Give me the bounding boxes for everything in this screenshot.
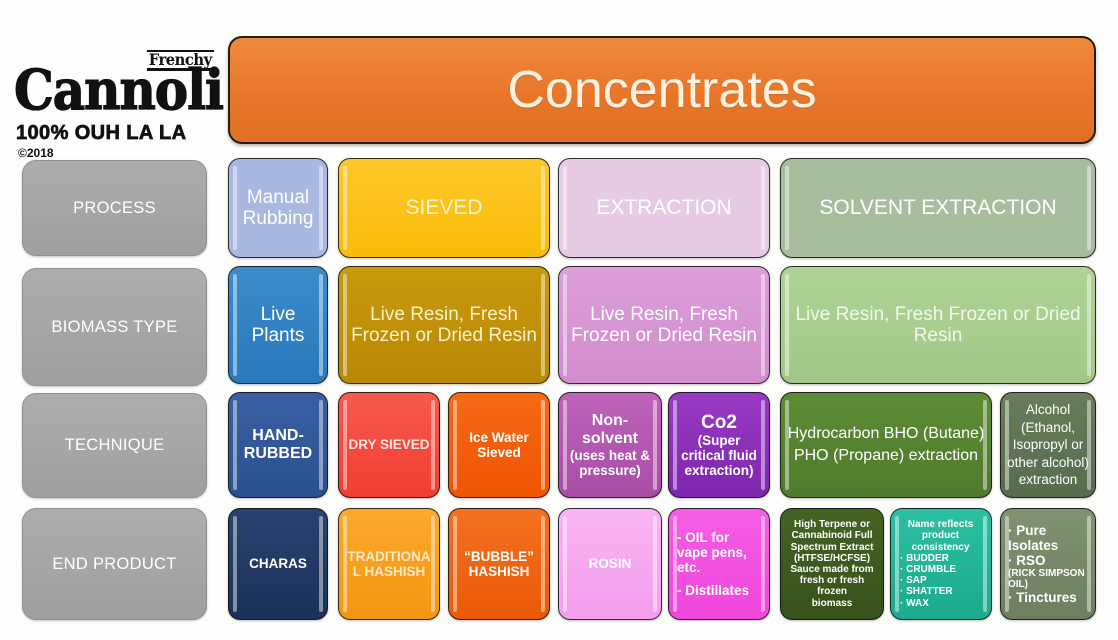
end-product-cell-isolates[interactable]: · Pure Isolates · RSO (RICK SIMPSON OIL)…: [1000, 508, 1096, 620]
end-product-oil-line-2: - Distillates: [677, 583, 763, 598]
biomass-extraction-text: Live Resin, Fresh Frozen or Dried Resin: [565, 304, 763, 347]
technique-co2-title: Co2: [675, 412, 763, 433]
end-product-htfse-line-4: (HTFSE/HCFSE): [787, 553, 877, 564]
biomass-cell-live-plants[interactable]: Live Plants: [228, 266, 328, 384]
biomass-cell-solvent-extraction[interactable]: Live Resin, Fresh Frozen or Dried Resin: [780, 266, 1096, 384]
end-product-traditional-hashish-text: TRADITIONA L HASHISH: [345, 549, 433, 579]
biomass-live-plants-text: Live Plants: [235, 304, 321, 347]
technique-non-solvent-sub: (uses heat & pressure): [565, 448, 655, 478]
technique-non-solvent-title: Non-solvent: [565, 412, 655, 448]
row-label-end-product-text: END PRODUCT: [52, 555, 176, 574]
end-product-cell-htfse-hcfse[interactable]: High Terpene or Cannabinoid Full Spectru…: [780, 508, 884, 620]
end-product-htfse-line-2: Cannabinoid Full: [787, 530, 877, 541]
technique-ice-water-sieved-text: Ice Water Sieved: [455, 430, 543, 460]
logo-cannoli-text: Cannoli: [14, 63, 223, 118]
row-label-end-product: END PRODUCT: [22, 508, 207, 620]
logo-tagline: 100% OUH LA LA: [16, 122, 186, 145]
row-label-technique: TECHNIQUE: [22, 393, 207, 498]
technique-hydrocarbon-text: Hydrocarbon BHO (Butane) PHO (Propane) e…: [787, 423, 985, 466]
end-product-cell-consistency[interactable]: Name reflects product consistency · BUDD…: [890, 508, 992, 620]
biomass-cell-sieved[interactable]: Live Resin, Fresh Frozen or Dried Resin: [338, 266, 550, 384]
end-product-consistency-bullet-4: · SHATTER: [896, 586, 985, 597]
end-product-rosin-text: ROSIN: [565, 556, 655, 571]
biomass-sieved-text: Live Resin, Fresh Frozen or Dried Resin: [345, 304, 543, 347]
technique-cell-hydrocarbon[interactable]: Hydrocarbon BHO (Butane) PHO (Propane) e…: [780, 392, 992, 498]
technique-dry-sieved-text: DRY SIEVED: [345, 437, 433, 452]
technique-cell-alcohol[interactable]: Alcohol (Ethanol, Isopropyl or other alc…: [1000, 392, 1096, 498]
technique-alcohol-text: Alcohol (Ethanol, Isopropyl or other alc…: [1007, 401, 1089, 489]
end-product-htfse-line-3: Spectrum Extract: [787, 542, 877, 553]
end-product-isolates-bullet-2: · RSO: [1008, 553, 1089, 568]
end-product-charas-text: CHARAS: [235, 556, 321, 571]
row-label-process: PROCESS: [22, 160, 207, 256]
end-product-bubble-hashish-text: “BUBBLE” HASHISH: [455, 549, 543, 579]
end-product-cell-bubble-hashish[interactable]: “BUBBLE” HASHISH: [448, 508, 550, 620]
process-sieved-text: SIEVED: [345, 196, 543, 220]
end-product-consistency-bullet-1: · BUDDER: [896, 553, 985, 564]
end-product-cell-oil-distillates[interactable]: - OIL for vape pens, etc. - Distillates: [668, 508, 770, 620]
page-title: Concentrates: [228, 36, 1096, 144]
technique-cell-hand-rubbed[interactable]: HAND-RUBBED: [228, 392, 328, 498]
technique-cell-dry-sieved[interactable]: DRY SIEVED: [338, 392, 440, 498]
page-title-text: Concentrates: [507, 60, 816, 120]
end-product-isolates-bullet-3: · Tinctures: [1008, 590, 1089, 605]
process-cell-solvent-extraction[interactable]: SOLVENT EXTRACTION: [780, 158, 1096, 258]
end-product-isolates-bullet-1: · Pure Isolates: [1008, 523, 1089, 553]
technique-cell-non-solvent[interactable]: Non-solvent (uses heat & pressure): [558, 392, 662, 498]
infographic-root: Frenchy Cannoli 100% OUH LA LA ©2018 Con…: [0, 0, 1118, 640]
end-product-consistency-heading: Name reflects product consistency: [896, 519, 985, 553]
process-solvent-extraction-text: SOLVENT EXTRACTION: [787, 196, 1089, 220]
biomass-cell-extraction[interactable]: Live Resin, Fresh Frozen or Dried Resin: [558, 266, 770, 384]
process-cell-manual-rubbing[interactable]: Manual Rubbing: [228, 158, 328, 258]
end-product-htfse-line-1: High Terpene or: [787, 519, 877, 530]
end-product-htfse-line-7: biomass: [787, 598, 877, 609]
end-product-htfse-line-5: Sauce made from: [787, 564, 877, 575]
process-extraction-text: EXTRACTION: [565, 196, 763, 220]
end-product-cell-rosin[interactable]: ROSIN: [558, 508, 662, 620]
biomass-solvent-extraction-text: Live Resin, Fresh Frozen or Dried Resin: [787, 304, 1089, 347]
process-cell-extraction[interactable]: EXTRACTION: [558, 158, 770, 258]
end-product-consistency-bullet-5: · WAX: [896, 598, 985, 609]
end-product-consistency-bullet-2: · CRUMBLE: [896, 564, 985, 575]
process-cell-sieved[interactable]: SIEVED: [338, 158, 550, 258]
row-label-biomass-type: BIOMASS TYPE: [22, 268, 207, 386]
end-product-isolates-note: (RICK SIMPSON OIL): [1008, 568, 1089, 590]
technique-cell-co2[interactable]: Co2 (Super critical fluid extraction): [668, 392, 770, 498]
row-label-biomass-type-text: BIOMASS TYPE: [51, 318, 177, 337]
row-label-process-text: PROCESS: [73, 199, 156, 218]
end-product-cell-charas[interactable]: CHARAS: [228, 508, 328, 620]
row-label-technique-text: TECHNIQUE: [65, 436, 165, 455]
technique-cell-ice-water-sieved[interactable]: Ice Water Sieved: [448, 392, 550, 498]
logo-copyright: ©2018: [18, 146, 54, 160]
process-manual-rubbing-text: Manual Rubbing: [235, 187, 321, 230]
technique-co2-sub: (Super critical fluid extraction): [675, 433, 763, 478]
end-product-cell-traditional-hashish[interactable]: TRADITIONA L HASHISH: [338, 508, 440, 620]
brand-logo: Frenchy Cannoli 100% OUH LA LA ©2018: [14, 50, 222, 150]
technique-hand-rubbed-text: HAND-RUBBED: [235, 427, 321, 463]
end-product-consistency-bullet-3: · SAP: [896, 575, 985, 586]
end-product-oil-line-1: - OIL for vape pens, etc.: [677, 530, 763, 575]
end-product-htfse-line-6: fresh or fresh frozen: [787, 575, 877, 597]
